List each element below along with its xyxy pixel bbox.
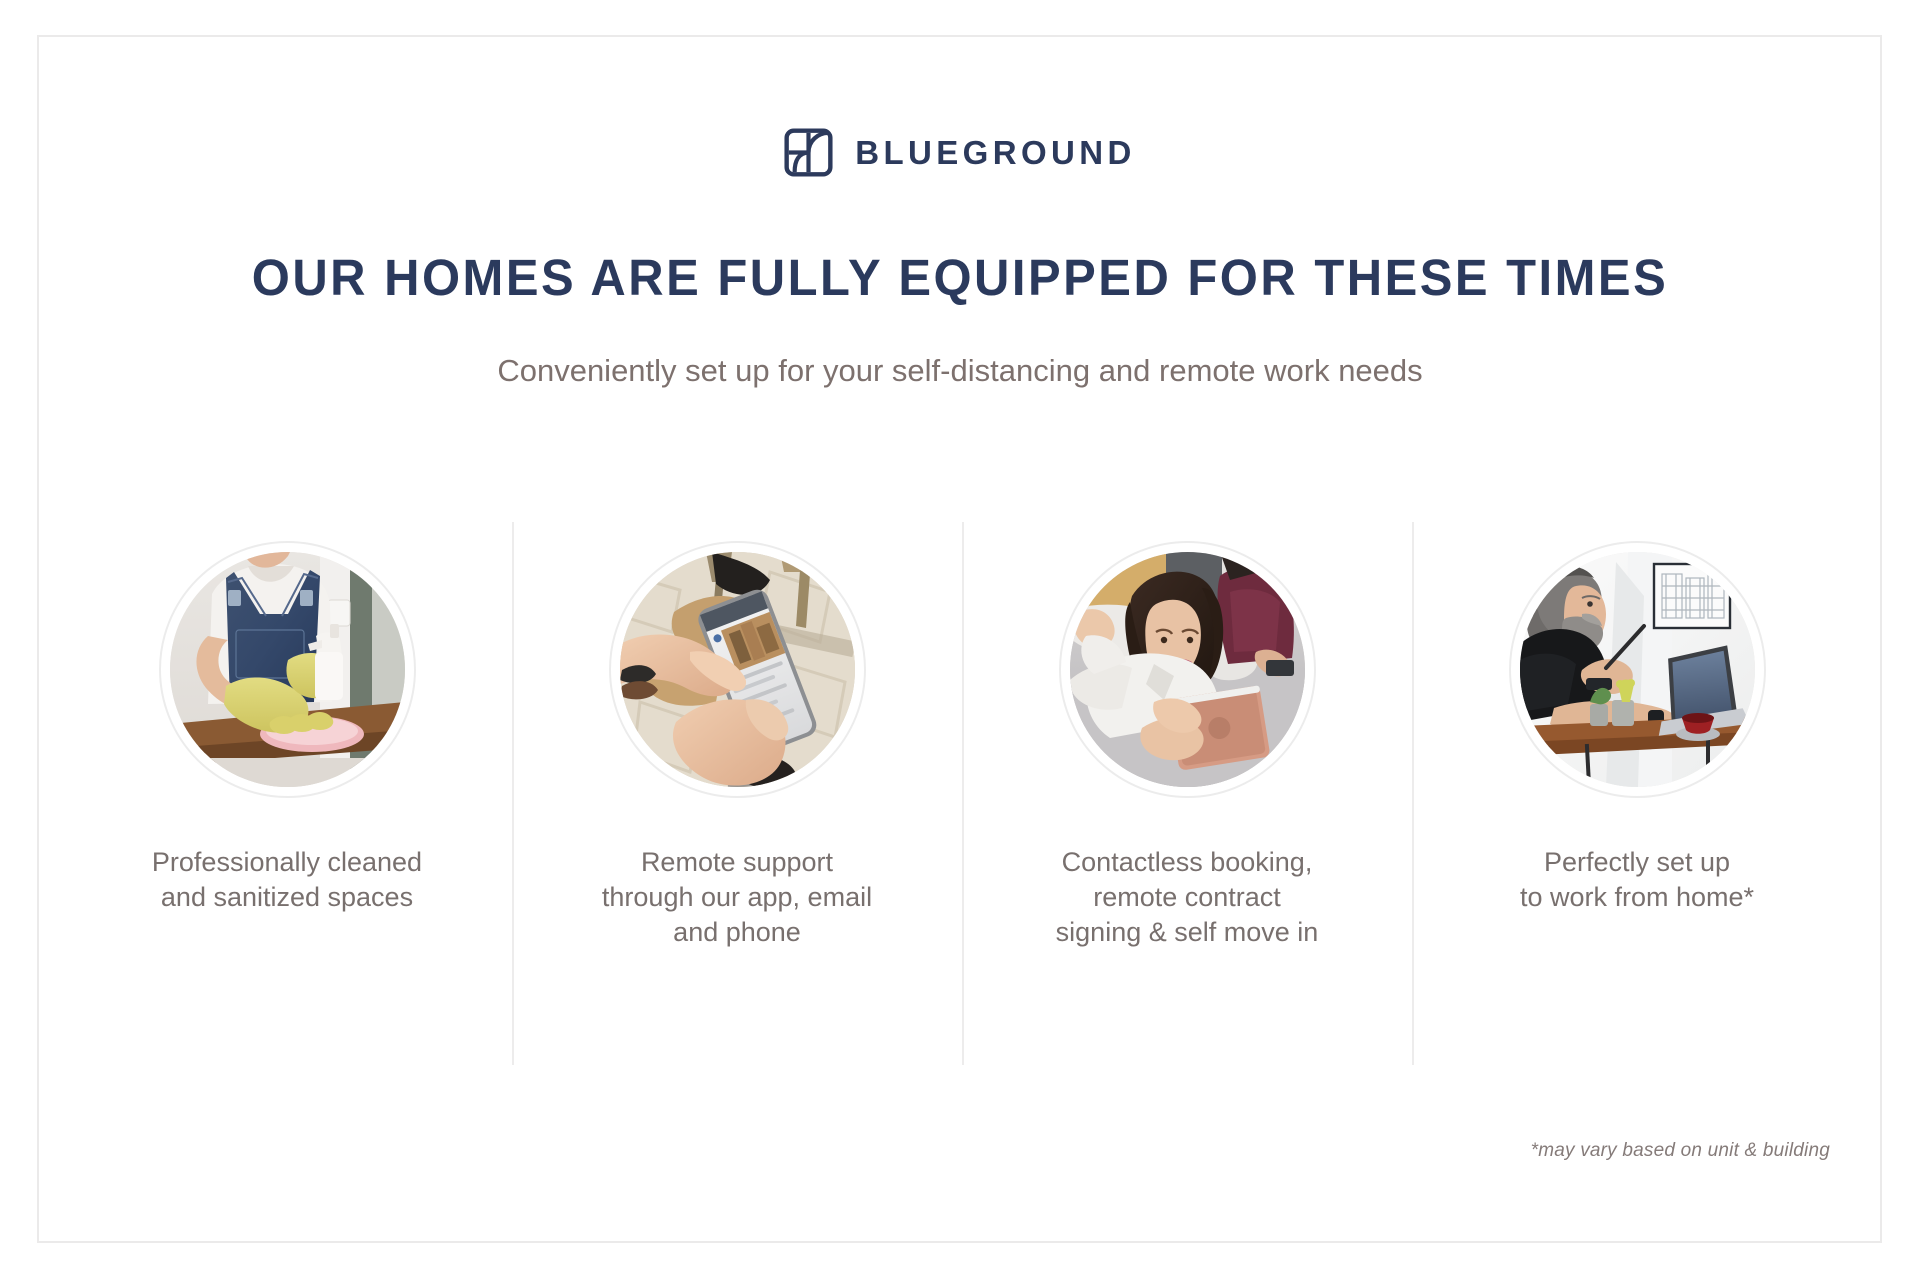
work-from-home-photo — [1520, 552, 1755, 787]
page-title: OUR HOMES ARE FULLY EQUIPPED FOR THESE T… — [38, 250, 1881, 306]
feature-image-ring — [1059, 541, 1316, 798]
feature-caption: Remote support through our app, email an… — [512, 845, 962, 950]
tablet-booking-photo — [1070, 552, 1305, 787]
footnote-text: *may vary based on unit & building — [1531, 1140, 1830, 1162]
page-subtitle: Conveniently set up for your self-distan… — [0, 352, 1920, 389]
feature-columns: Professionally cleaned and sanitized spa… — [62, 522, 1862, 1067]
feature-image-ring — [159, 541, 416, 798]
brand-logo-lockup[interactable]: BLUEGROUND — [0, 128, 1920, 177]
feature-caption: Contactless booking, remote contract sig… — [962, 845, 1412, 950]
brand-wordmark: BLUEGROUND — [855, 136, 1136, 169]
feature-image-ring — [609, 541, 866, 798]
blueground-square-mark-icon — [784, 128, 833, 177]
promo-poster: BLUEGROUND OUR HOMES ARE FULLY EQUIPPED … — [0, 0, 1920, 1280]
feature-caption: Professionally cleaned and sanitized spa… — [62, 845, 512, 915]
feature-column-remote-support: Remote support through our app, email an… — [512, 522, 962, 1067]
feature-column-cleaning: Professionally cleaned and sanitized spa… — [62, 522, 512, 1067]
feature-column-work-from-home: Perfectly set up to work from home* — [1412, 522, 1862, 1067]
feature-column-contactless-booking: Contactless booking, remote contract sig… — [962, 522, 1412, 1067]
feature-image-ring — [1509, 541, 1766, 798]
phone-support-photo — [620, 552, 855, 787]
cleaning-photo — [170, 552, 405, 787]
feature-caption: Perfectly set up to work from home* — [1412, 845, 1862, 915]
